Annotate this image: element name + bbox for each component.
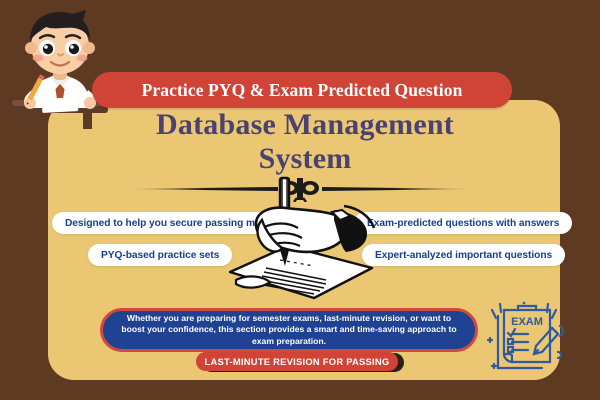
cta-tag-label: LAST-MINUTE REVISION FOR PASSING bbox=[205, 356, 390, 367]
feature-pill-right-2-label: Expert-analyzed important questions bbox=[375, 250, 552, 261]
description-text: Whether you are preparing for semester e… bbox=[119, 313, 459, 348]
exam-clipboard-checklist-icon: EXAM bbox=[478, 300, 570, 376]
page-title-line1: Database Management bbox=[70, 108, 540, 142]
page-title: Database Management System bbox=[70, 108, 540, 176]
feature-pill-left-2-label: PYQ-based practice sets bbox=[101, 250, 219, 261]
feature-pill-left-2[interactable]: PYQ-based practice sets bbox=[88, 244, 232, 266]
clipboard-exam-label: EXAM bbox=[511, 316, 543, 328]
hand-writing-with-pen-icon bbox=[222, 176, 394, 308]
page-title-line2: System bbox=[70, 142, 540, 176]
feature-pill-right-1-label: Exam-predicted questions with answers bbox=[367, 218, 559, 229]
description-box: Whether you are preparing for semester e… bbox=[100, 308, 478, 352]
banner-text: Practice PYQ & Exam Predicted Question bbox=[142, 80, 463, 101]
cta-tag-wrap: LAST-MINUTE REVISION FOR PASSING bbox=[196, 352, 404, 372]
poster-canvas: Practice PYQ & Exam Predicted Question D… bbox=[0, 0, 600, 400]
cta-tag[interactable]: LAST-MINUTE REVISION FOR PASSING bbox=[196, 352, 398, 371]
banner-ribbon: Practice PYQ & Exam Predicted Question bbox=[92, 72, 512, 108]
